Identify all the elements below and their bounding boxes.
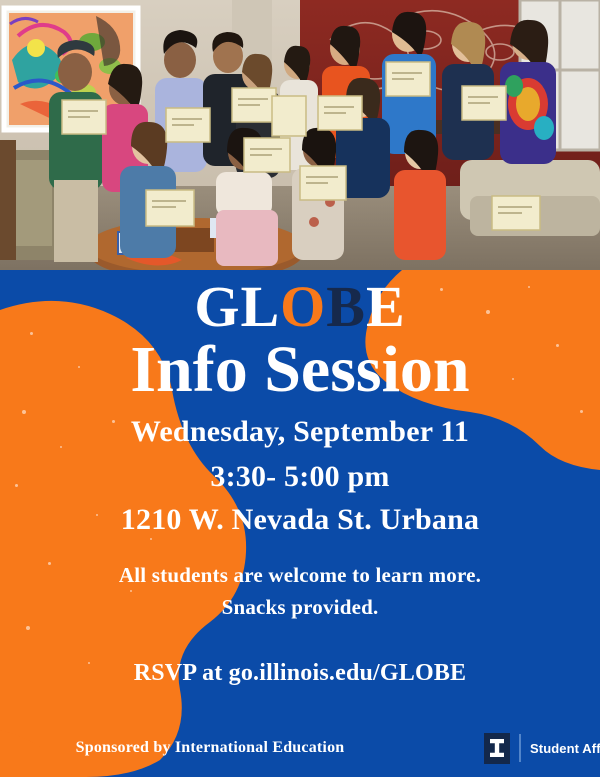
speckle (26, 626, 30, 630)
sponsor-credit: Sponsored by International Education (0, 739, 420, 757)
poster-subtitle: Info Session (0, 337, 600, 403)
student-affairs-label: Student Affairs (530, 741, 600, 756)
group-photo (0, 0, 600, 272)
speckle (22, 410, 26, 414)
snacks-message: Snacks provided. (0, 597, 600, 618)
title-letter-b: B (326, 274, 366, 339)
speckle (580, 410, 583, 413)
rsvp-link[interactable]: RSVP at go.illinois.edu/GLOBE (0, 661, 600, 685)
speckle (130, 590, 132, 592)
title-letter-l: L (240, 274, 280, 339)
group-photo-image (0, 0, 600, 272)
title-letter-e: E (366, 274, 406, 339)
poster-title-globe: GLOBE (0, 278, 600, 336)
brand-divider (519, 734, 521, 762)
illinois-block-i-icon (484, 733, 510, 764)
welcome-message: All students are welcome to learn more. (0, 565, 600, 586)
poster: GLOBE Info Session Wednesday, September … (0, 0, 600, 777)
speckle (150, 538, 152, 540)
event-location: 1210 W. Nevada St. Urbana (0, 505, 600, 535)
event-date: Wednesday, September 11 (0, 417, 600, 447)
title-letter-o: O (280, 274, 326, 339)
title-letter-g: G (194, 274, 240, 339)
event-time: 3:30- 5:00 pm (0, 462, 600, 492)
brand-lockup: Student Affairs (484, 731, 600, 765)
